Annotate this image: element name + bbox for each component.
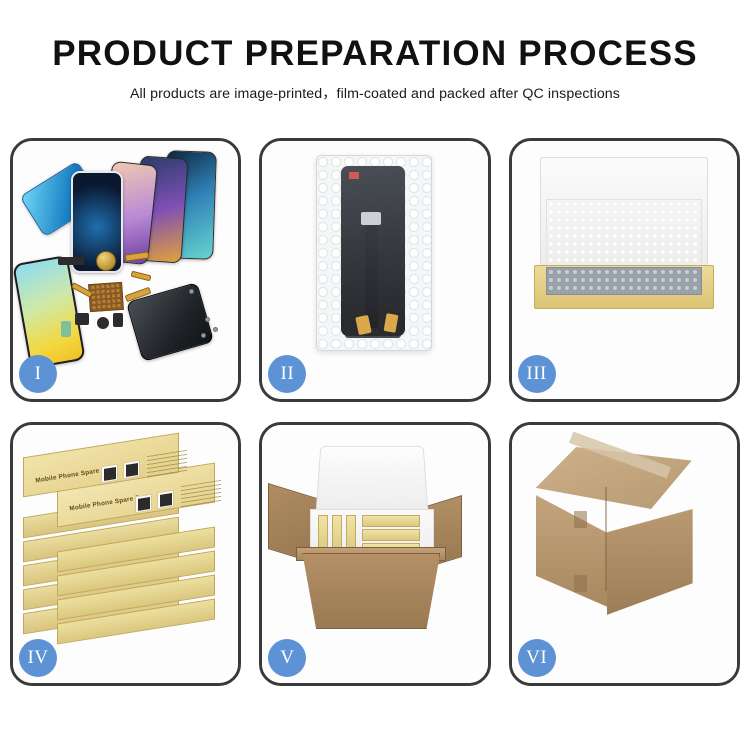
process-step-card-6[interactable]: VI	[509, 422, 740, 686]
process-step-grid: I II	[10, 138, 740, 686]
page-title: PRODUCT PREPARATION PROCESS	[0, 36, 750, 73]
step-badge-6: VI	[518, 639, 556, 677]
process-step-card-2[interactable]: II	[259, 138, 490, 402]
process-step-card-1[interactable]: I	[10, 138, 241, 402]
step-badge-4: IV	[19, 639, 57, 677]
step-badge-1: I	[19, 355, 57, 393]
process-step-card-4[interactable]: Mobile Phone Spare Parts Mobile Phone Sp…	[10, 422, 241, 686]
infographic-page: PRODUCT PREPARATION PROCESS All products…	[0, 0, 750, 750]
process-step-card-3[interactable]: III	[509, 138, 740, 402]
header: PRODUCT PREPARATION PROCESS All products…	[0, 0, 750, 103]
process-step-card-5[interactable]: V	[259, 422, 490, 686]
step-badge-3: III	[518, 355, 556, 393]
page-subtitle: All products are image-printed，film-coat…	[0, 83, 750, 103]
